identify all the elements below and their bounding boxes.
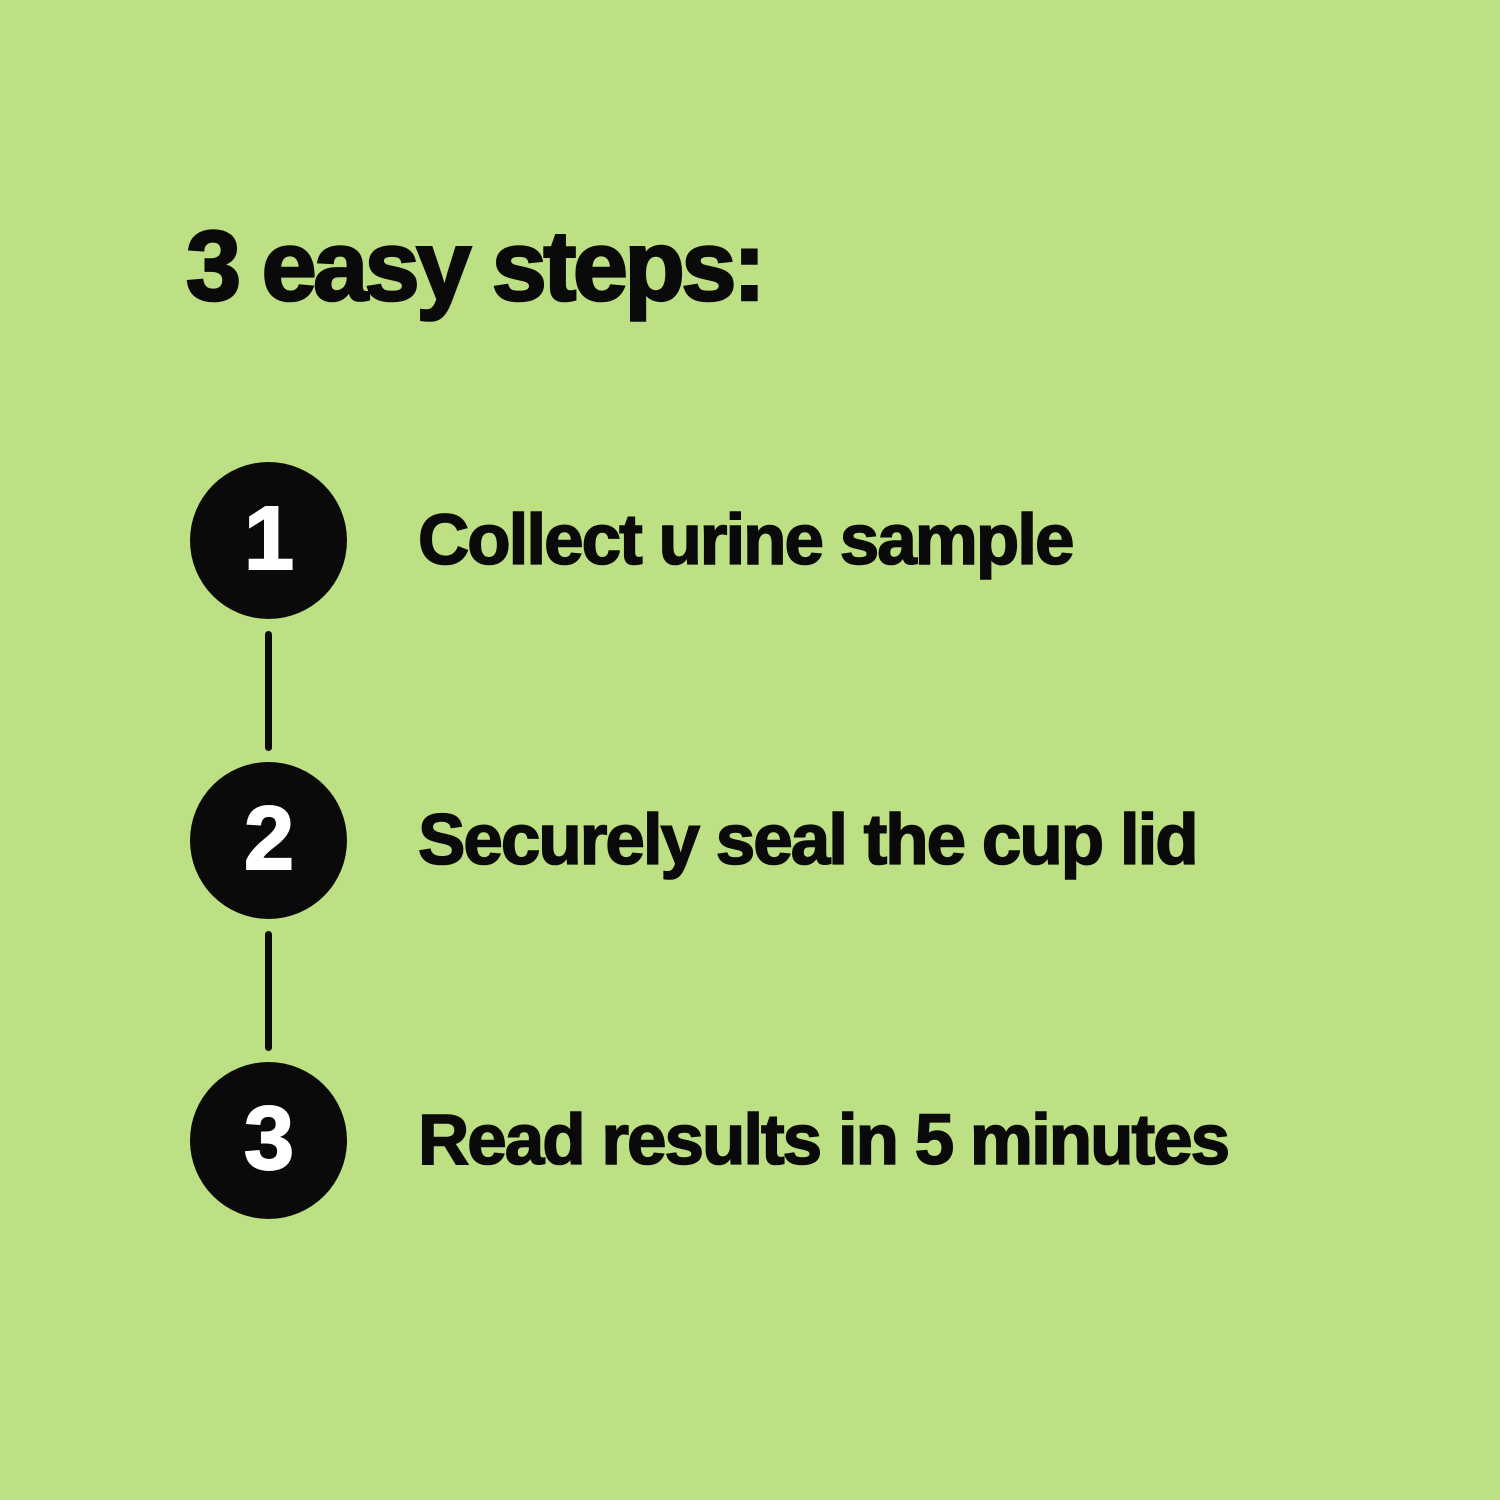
step-item-1: 1 Collect urine sample (190, 462, 1390, 619)
step-number-badge-2: 2 (190, 762, 347, 919)
step-number-badge-3: 3 (190, 1062, 347, 1219)
step-text-1: Collect urine sample (418, 505, 1390, 576)
step-number-label-1: 1 (244, 494, 293, 584)
step-text-2: Securely seal the cup lid (418, 805, 1390, 876)
step-text-3: Read results in 5 minutes (418, 1105, 1390, 1176)
steps-list: 1 Collect urine sample 2 Securely seal t… (0, 0, 1500, 1500)
three-easy-steps-poster: 3 easy steps: 1 Collect urine sample 2 S… (0, 0, 1500, 1500)
step-item-3: 3 Read results in 5 minutes (190, 1062, 1390, 1219)
step-number-label-2: 2 (244, 794, 293, 884)
step-number-label-3: 3 (244, 1094, 293, 1184)
step-connector-2-to-3 (265, 931, 272, 1051)
step-connector-1-to-2 (265, 631, 272, 751)
step-item-2: 2 Securely seal the cup lid (190, 762, 1390, 919)
step-number-badge-1: 1 (190, 462, 347, 619)
